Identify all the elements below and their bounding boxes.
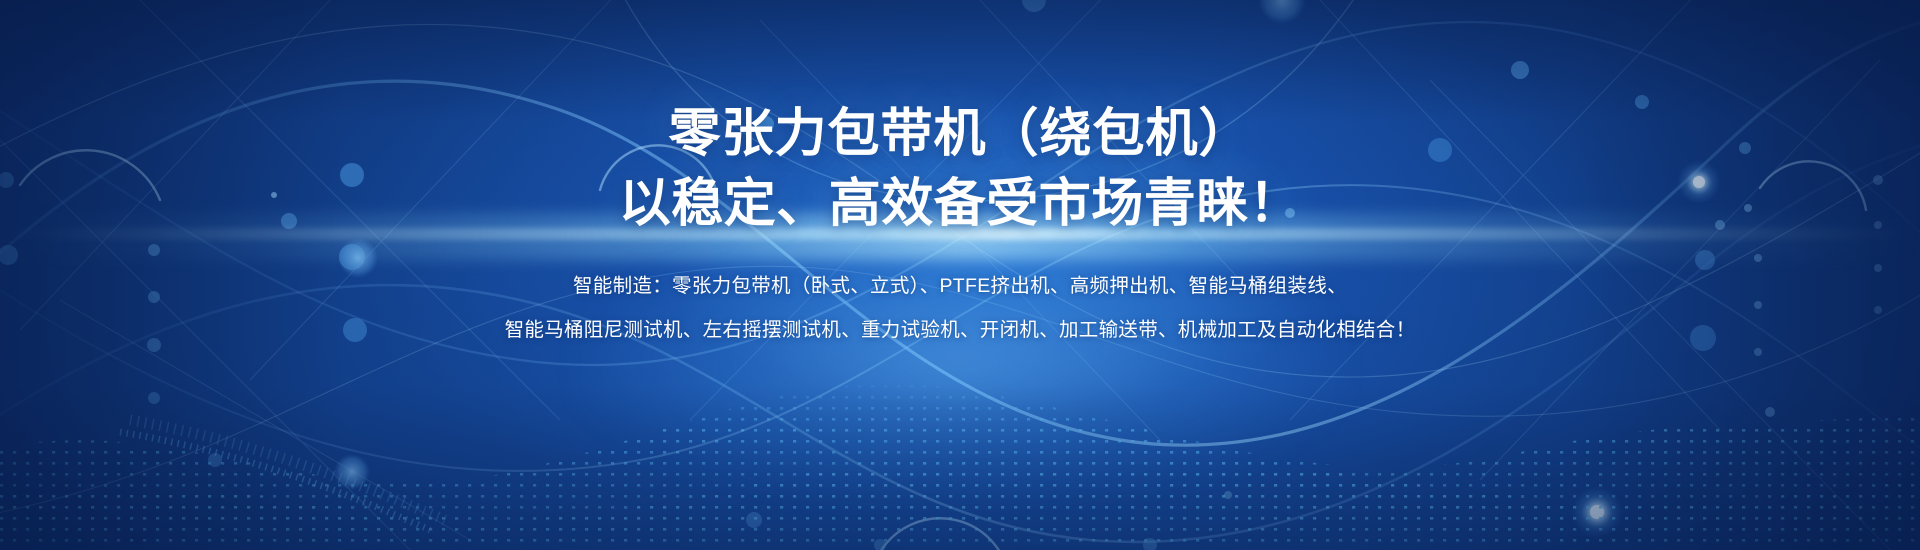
page-subtitle: 智能制造：零张力包带机（卧式、立式）、PTFE挤出机、高频押出机、智能马桶组装线… [505,265,1416,352]
headline-line-2: 以稳定、高效备受市场青睐！ [619,175,1302,233]
subtitle-line-2: 智能马桶阻尼测试机、左右摇摆测试机、重力试验机、开闭机、加工输送带、机械加工及自… [505,309,1416,352]
subtitle-line-1: 智能制造：零张力包带机（卧式、立式）、PTFE挤出机、高频押出机、智能马桶组装线… [505,265,1416,308]
page-title: 零张力包带机（绕包机） 以稳定、高效备受市场青睐！ [619,100,1302,239]
hero-banner: 零张力包带机（绕包机） 以稳定、高效备受市场青睐！ 智能制造：零张力包带机（卧式… [0,0,1920,550]
banner-content: 零张力包带机（绕包机） 以稳定、高效备受市场青睐！ 智能制造：零张力包带机（卧式… [0,0,1920,550]
headline-line-1: 零张力包带机（绕包机） [668,105,1251,163]
